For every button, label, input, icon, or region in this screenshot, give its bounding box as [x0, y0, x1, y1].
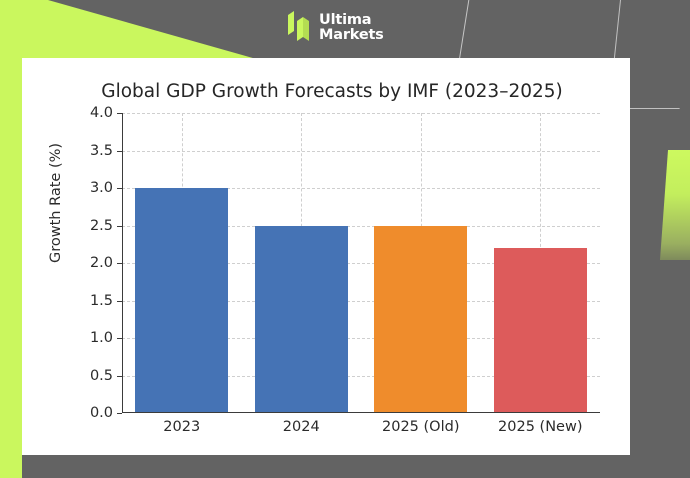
y-tick-label: 2.0 [90, 255, 113, 271]
x-tick-label: 2023 [163, 419, 200, 435]
bar [374, 226, 467, 414]
x-tick-label: 2024 [283, 419, 320, 435]
brand-name-line2: Markets [319, 28, 384, 43]
y-tick-label: 2.5 [90, 218, 113, 234]
accent-shape-right [660, 150, 690, 260]
brand-name-line1: Ultima [319, 13, 384, 28]
brand-logo: Ultima Markets [288, 11, 384, 45]
chart-card: Global GDP Growth Forecasts by IMF (2023… [22, 58, 630, 455]
x-tick-label: 2025 (Old) [382, 419, 459, 435]
y-tick-label: 4.0 [90, 105, 113, 121]
x-axis-line [122, 412, 600, 413]
x-tick-label: 2025 (New) [498, 419, 582, 435]
y-axis-line [122, 113, 123, 413]
brand-logo-text: Ultima Markets [319, 13, 384, 43]
bar [135, 188, 228, 413]
ultima-markets-logo-mark-icon [288, 11, 310, 45]
bar [255, 226, 348, 414]
gridline [122, 151, 600, 152]
bar [494, 248, 587, 413]
y-tick-label: 0.5 [90, 368, 113, 384]
y-tick-label: 3.0 [90, 180, 113, 196]
y-tick-mark [117, 413, 122, 414]
y-tick-label: 1.5 [90, 293, 113, 309]
slide-canvas: Ultima Markets Global GDP Growth Forecas… [0, 0, 690, 478]
gridline [122, 113, 600, 114]
chart-title: Global GDP Growth Forecasts by IMF (2023… [22, 81, 630, 102]
y-tick-label: 3.5 [90, 143, 113, 159]
y-tick-label: 1.0 [90, 330, 113, 346]
plot-area: 0.00.51.01.52.02.53.03.54.0 202320242025… [122, 113, 600, 413]
accent-diagonal-top-left [0, 0, 260, 60]
bar-chart: Global GDP Growth Forecasts by IMF (2023… [22, 58, 630, 455]
y-axis-label: Growth Rate (%) [48, 143, 64, 263]
y-tick-label: 0.0 [90, 405, 113, 421]
